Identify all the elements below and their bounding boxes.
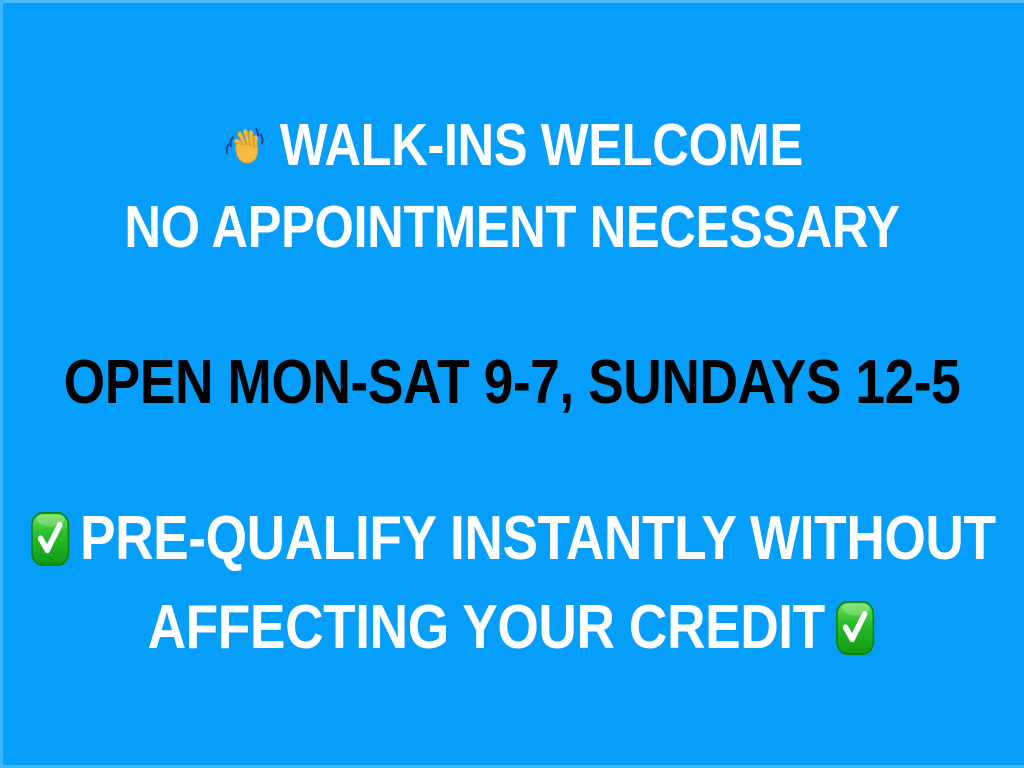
headline-text: WALK-INS WELCOME	[280, 116, 803, 175]
hours-line: OPEN MON-SAT 9-7, SUNDAYS 12-5	[72, 352, 953, 414]
prequalify-line-2: AFFECTING YOUR CREDIT	[72, 597, 953, 659]
waving-hand-icon	[221, 118, 269, 174]
prequalify-line-1: PRE-QUALIFY INSTANTLY WITHOUT	[72, 508, 953, 570]
hours-text: OPEN MON-SAT 9-7, SUNDAYS 12-5	[64, 352, 961, 414]
prequalify-text: AFFECTING YOUR CREDIT	[148, 597, 825, 659]
white-check-mark-icon	[28, 511, 71, 567]
white-check-mark-icon	[833, 600, 876, 656]
headline-line-walk-ins-welcome: WALK-INS WELCOME	[72, 116, 953, 175]
slide-content: WALK-INS WELCOME NO APPOINTMENT NECESSAR…	[0, 0, 1024, 768]
headline-text: NO APPOINTMENT NECESSARY	[124, 198, 899, 257]
prequalify-text: PRE-QUALIFY INSTANTLY WITHOUT	[80, 508, 996, 570]
promo-sign-slide: WALK-INS WELCOME NO APPOINTMENT NECESSAR…	[0, 0, 1024, 768]
headline-line-no-appointment: NO APPOINTMENT NECESSARY	[72, 198, 953, 257]
